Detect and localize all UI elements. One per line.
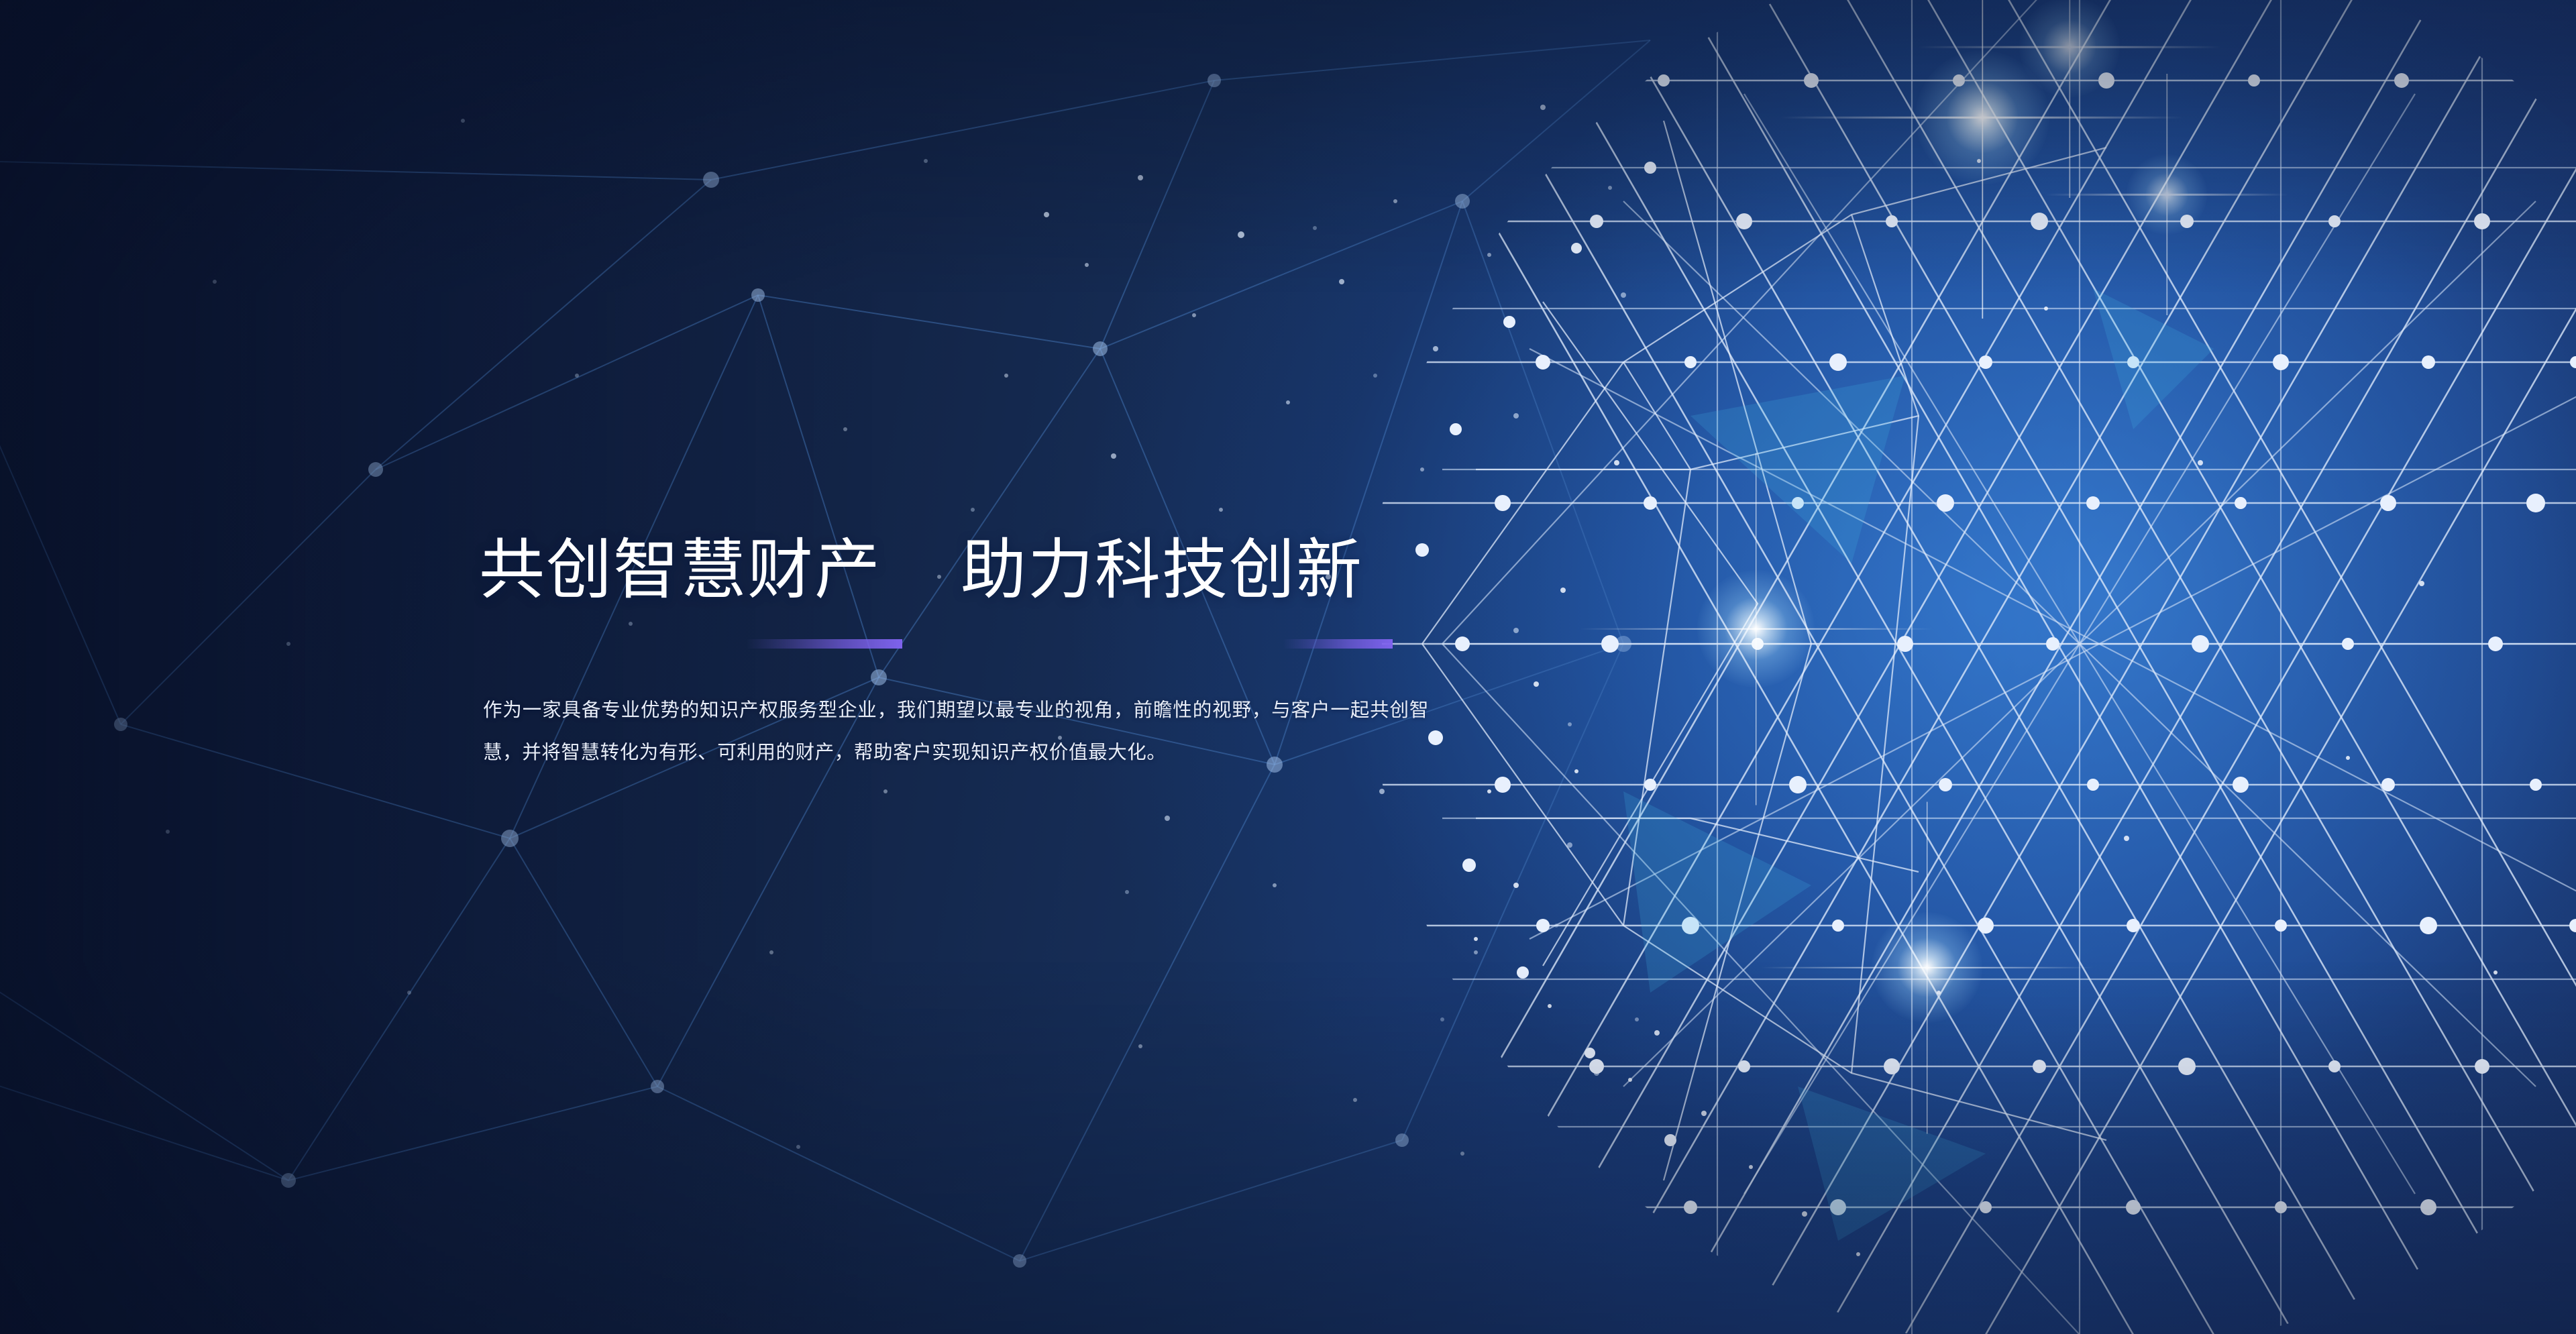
lens-flare-upper bbox=[2019, 0, 2120, 97]
headline-accent-bar-right bbox=[1283, 639, 1393, 649]
lens-flare-lower bbox=[1872, 912, 1982, 1023]
hero-banner: 共创智慧财产助力科技创新 作为一家具备专业优势的知识产权服务型企业，我们期望以最… bbox=[0, 0, 2576, 1334]
headline-phrase-1: 共创智慧财产 bbox=[479, 537, 881, 602]
lens-flare-right-edge bbox=[2127, 154, 2207, 235]
hero-text-block: 共创智慧财产助力科技创新 作为一家具备专业优势的知识产权服务型企业，我们期望以最… bbox=[479, 537, 1432, 625]
headline-accent-bar-left bbox=[747, 639, 902, 649]
hero-description: 作为一家具备专业优势的知识产权服务型企业，我们期望以最专业的视角，前瞻性的视野，… bbox=[483, 689, 1429, 774]
headline-phrase-2: 助力科技创新 bbox=[961, 537, 1363, 602]
lens-flare-mid-left bbox=[1697, 570, 1815, 687]
page-title: 共创智慧财产助力科技创新 bbox=[479, 537, 1432, 625]
